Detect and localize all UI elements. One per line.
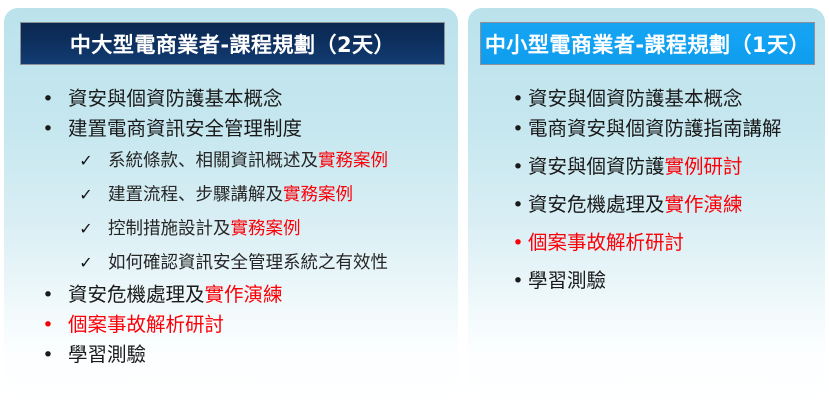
panel-left-course-list: •資安與個資防護基本概念•建置電商資訊安全管理制度✓系統條款、相關資訊概述及實務…	[4, 84, 458, 370]
highlight-text: 實務案例	[283, 185, 353, 205]
list-item: ✓控制措施設計及實務案例	[4, 212, 458, 246]
plain-text: 如何確認資訊安全管理系統之有效性	[108, 253, 388, 273]
list-item-label: 系統條款、相關資訊概述及實務案例	[108, 144, 388, 178]
highlight-text: 個案事故解析研討	[68, 313, 224, 336]
list-item-label: 如何確認資訊安全管理系統之有效性	[108, 246, 388, 280]
bullet-icon: •	[512, 84, 524, 114]
panel-large-medium-ecommerce: 中大型電商業者-課程規劃（2天） •資安與個資防護基本概念•建置電商資訊安全管理…	[4, 8, 458, 402]
list-item: •個案事故解析研討	[468, 228, 825, 258]
list-item: •資安危機處理及實作演練	[4, 280, 458, 310]
panel-right-course-list: •資安與個資防護基本概念•電商資安與個資防護指南講解•資安與個資防護實例研討•資…	[468, 84, 825, 296]
plain-text: 系統條款、相關資訊概述及	[108, 151, 318, 171]
list-item-label: 建置流程、步驟講解及實務案例	[108, 178, 353, 212]
list-item-label: 資安與個資防護基本概念	[528, 84, 743, 114]
bullet-icon: •	[512, 152, 524, 182]
highlight-text: 實作演練	[205, 283, 283, 306]
list-item-label: 電商資安與個資防護指南講解	[528, 114, 782, 144]
list-item-label: 控制措施設計及實務案例	[108, 212, 301, 246]
highlight-text: 實作演練	[665, 193, 743, 216]
panel-small-medium-ecommerce: 中小型電商業者-課程規劃（1天） •資安與個資防護基本概念•電商資安與個資防護指…	[468, 8, 825, 402]
list-item-label: 資安危機處理及實作演練	[68, 280, 283, 310]
list-item: •個案事故解析研討	[4, 310, 458, 340]
plain-text: 電商資安與個資防護指南講解	[528, 117, 782, 140]
list-item: ✓如何確認資訊安全管理系統之有效性	[4, 246, 458, 280]
check-icon: ✓	[78, 178, 94, 212]
list-item-label: 學習測驗	[68, 340, 146, 370]
list-item-label: 個案事故解析研討	[528, 228, 684, 258]
list-item: ✓建置流程、步驟講解及實務案例	[4, 178, 458, 212]
list-item: •學習測驗	[4, 340, 458, 370]
highlight-text: 實務案例	[231, 219, 301, 239]
bullet-icon: •	[512, 190, 524, 220]
list-item-label: 資安與個資防護實例研討	[528, 152, 743, 182]
bullet-icon: •	[42, 280, 54, 310]
list-item: ✓系統條款、相關資訊概述及實務案例	[4, 144, 458, 178]
plain-text: 資安與個資防護基本概念	[528, 87, 743, 110]
plain-text: 建置電商資訊安全管理制度	[68, 117, 302, 140]
bullet-icon: •	[42, 340, 54, 370]
plain-text: 建置流程、步驟講解及	[108, 185, 283, 205]
list-item: •建置電商資訊安全管理制度	[4, 114, 458, 144]
plain-text: 資安與個資防護基本概念	[68, 87, 283, 110]
list-item: •資安與個資防護基本概念	[468, 84, 825, 114]
list-item: •資安與個資防護實例研討	[468, 152, 825, 182]
plain-text: 控制措施設計及	[108, 219, 231, 239]
plain-text: 學習測驗	[528, 269, 606, 292]
highlight-text: 個案事故解析研討	[528, 231, 684, 254]
list-item-label: 學習測驗	[528, 266, 606, 296]
highlight-text: 實例研討	[665, 155, 743, 178]
bullet-icon: •	[512, 266, 524, 296]
plain-text: 資安危機處理及	[528, 193, 665, 216]
plain-text: 資安與個資防護	[528, 155, 665, 178]
check-icon: ✓	[78, 212, 94, 246]
bullet-icon: •	[42, 114, 54, 144]
plain-text: 學習測驗	[68, 343, 146, 366]
course-plan-slide: 中大型電商業者-課程規劃（2天） •資安與個資防護基本概念•建置電商資訊安全管理…	[0, 0, 829, 402]
check-icon: ✓	[78, 246, 94, 280]
list-item-label: 資安危機處理及實作演練	[528, 190, 743, 220]
bullet-icon: •	[42, 84, 54, 114]
list-item-label: 個案事故解析研討	[68, 310, 224, 340]
panel-right-title: 中小型電商業者-課程規劃（1天）	[480, 22, 815, 65]
panel-left-title: 中大型電商業者-課程規劃（2天）	[20, 22, 445, 65]
list-item: •電商資安與個資防護指南講解	[468, 114, 825, 144]
list-item: •資安與個資防護基本概念	[4, 84, 458, 114]
bullet-icon: •	[42, 310, 54, 340]
bullet-icon: •	[512, 228, 524, 258]
plain-text: 資安危機處理及	[68, 283, 205, 306]
list-item-label: 建置電商資訊安全管理制度	[68, 114, 302, 144]
list-item: •學習測驗	[468, 266, 825, 296]
highlight-text: 實務案例	[318, 151, 388, 171]
list-item-label: 資安與個資防護基本概念	[68, 84, 283, 114]
list-item: •資安危機處理及實作演練	[468, 190, 825, 220]
check-icon: ✓	[78, 144, 94, 178]
bullet-icon: •	[512, 114, 524, 144]
